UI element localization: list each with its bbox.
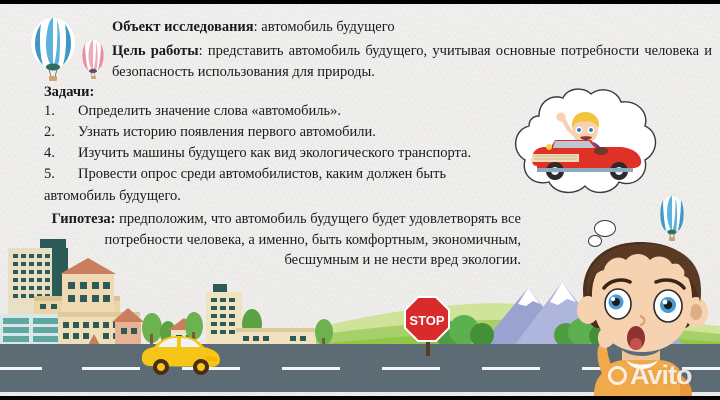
task-item: 2. Узнать историю появления первого авто… bbox=[44, 122, 514, 143]
goal-text: : представить автомобиль будущего, учиты… bbox=[112, 43, 712, 80]
presentation-slide: STOP Объект исследования: автомобиль буд… bbox=[0, 0, 720, 400]
watermark-text: Avito bbox=[630, 360, 692, 391]
hypothesis-label: Гипотеза: bbox=[52, 211, 116, 227]
road-dash bbox=[0, 367, 42, 370]
road-dash bbox=[282, 367, 340, 370]
avito-logo-icon bbox=[608, 366, 627, 385]
task-text: Провести опрос среди автомобилистов, как… bbox=[78, 166, 446, 182]
task-number: 5. bbox=[44, 164, 55, 185]
task-continuation-line: автомобиль будущего. bbox=[44, 186, 514, 207]
avito-watermark: Avito bbox=[608, 360, 692, 391]
road-dash bbox=[382, 367, 440, 370]
hypothesis-block: Гипотеза: предположим, что автомобиль бу… bbox=[46, 209, 521, 271]
stop-sign-label: STOP bbox=[409, 313, 444, 328]
slide-bottom-border bbox=[0, 396, 720, 400]
task-number: 4. bbox=[44, 143, 55, 164]
stop-sign-icon: STOP bbox=[404, 296, 454, 356]
tasks-heading: Задачи: bbox=[44, 84, 94, 101]
yellow-car-icon bbox=[138, 334, 224, 378]
task-text: Узнать историю появления первого автомоб… bbox=[78, 124, 376, 140]
slide-top-border bbox=[0, 0, 720, 4]
goal-label: Цель работы bbox=[112, 43, 199, 59]
hypothesis-text: предположим, что автомобиль будущего буд… bbox=[105, 211, 521, 268]
slide-canvas: STOP Объект исследования: автомобиль буд… bbox=[0, 4, 720, 396]
task-item: 4. Изучить машины будущего как вид эколо… bbox=[44, 143, 514, 164]
hot-air-balloon-blue-icon bbox=[26, 18, 80, 84]
task-number: 1. bbox=[44, 101, 55, 122]
task-item: 1. Определить значение слова «автомобиль… bbox=[44, 101, 514, 122]
goal-line: Цель работы: представить автомобиль буду… bbox=[112, 41, 712, 82]
object-line: Объект исследования: автомобиль будущего bbox=[112, 18, 542, 36]
object-label: Объект исследования bbox=[112, 19, 254, 35]
task-text: Определить значение слова «автомобиль». bbox=[78, 103, 341, 119]
object-text: : автомобиль будущего bbox=[254, 19, 395, 35]
tasks-list: 1. Определить значение слова «автомобиль… bbox=[44, 101, 514, 207]
road-dash bbox=[482, 367, 540, 370]
task-item: 5. Провести опрос среди автомобилистов, … bbox=[44, 164, 514, 185]
hot-air-balloon-pink-icon bbox=[78, 40, 108, 80]
road-dash bbox=[82, 367, 140, 370]
task-number: 2. bbox=[44, 122, 55, 143]
task-text: Изучить машины будущего как вид экологич… bbox=[78, 145, 471, 161]
